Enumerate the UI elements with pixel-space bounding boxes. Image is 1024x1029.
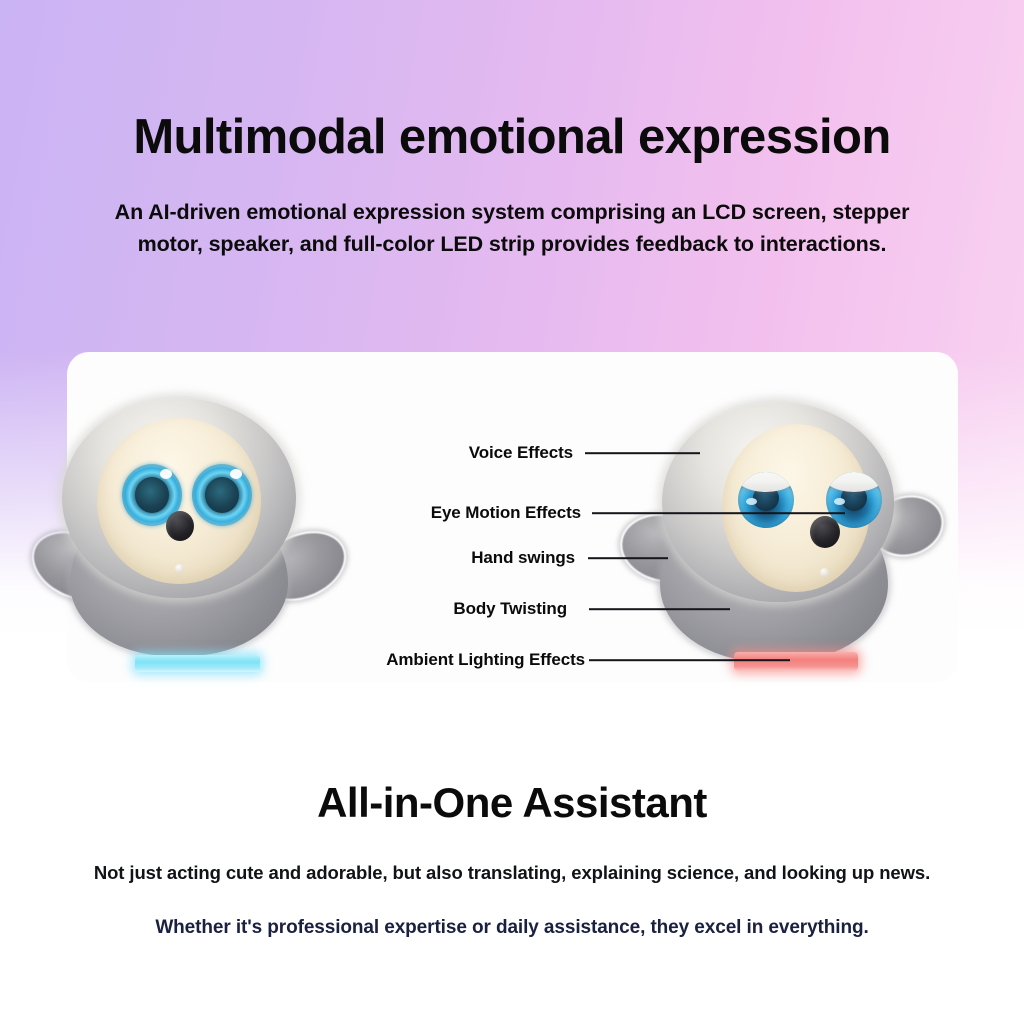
hero-section: Multimodal emotional expression An AI-dr…	[0, 0, 1024, 260]
page-root: Multimodal emotional expression An AI-dr…	[0, 0, 1024, 1029]
product-showcase-card	[67, 352, 958, 682]
bottom-title: All-in-One Assistant	[0, 780, 1024, 826]
page-title: Multimodal emotional expression	[0, 112, 1024, 163]
bottom-description-secondary: Whether it's professional expertise or d…	[152, 914, 872, 942]
bottom-description-primary: Not just acting cute and adorable, but a…	[0, 862, 1024, 884]
bottom-section: All-in-One Assistant Not just acting cut…	[0, 780, 1024, 942]
hero-subtitle: An AI-driven emotional expression system…	[112, 197, 912, 259]
